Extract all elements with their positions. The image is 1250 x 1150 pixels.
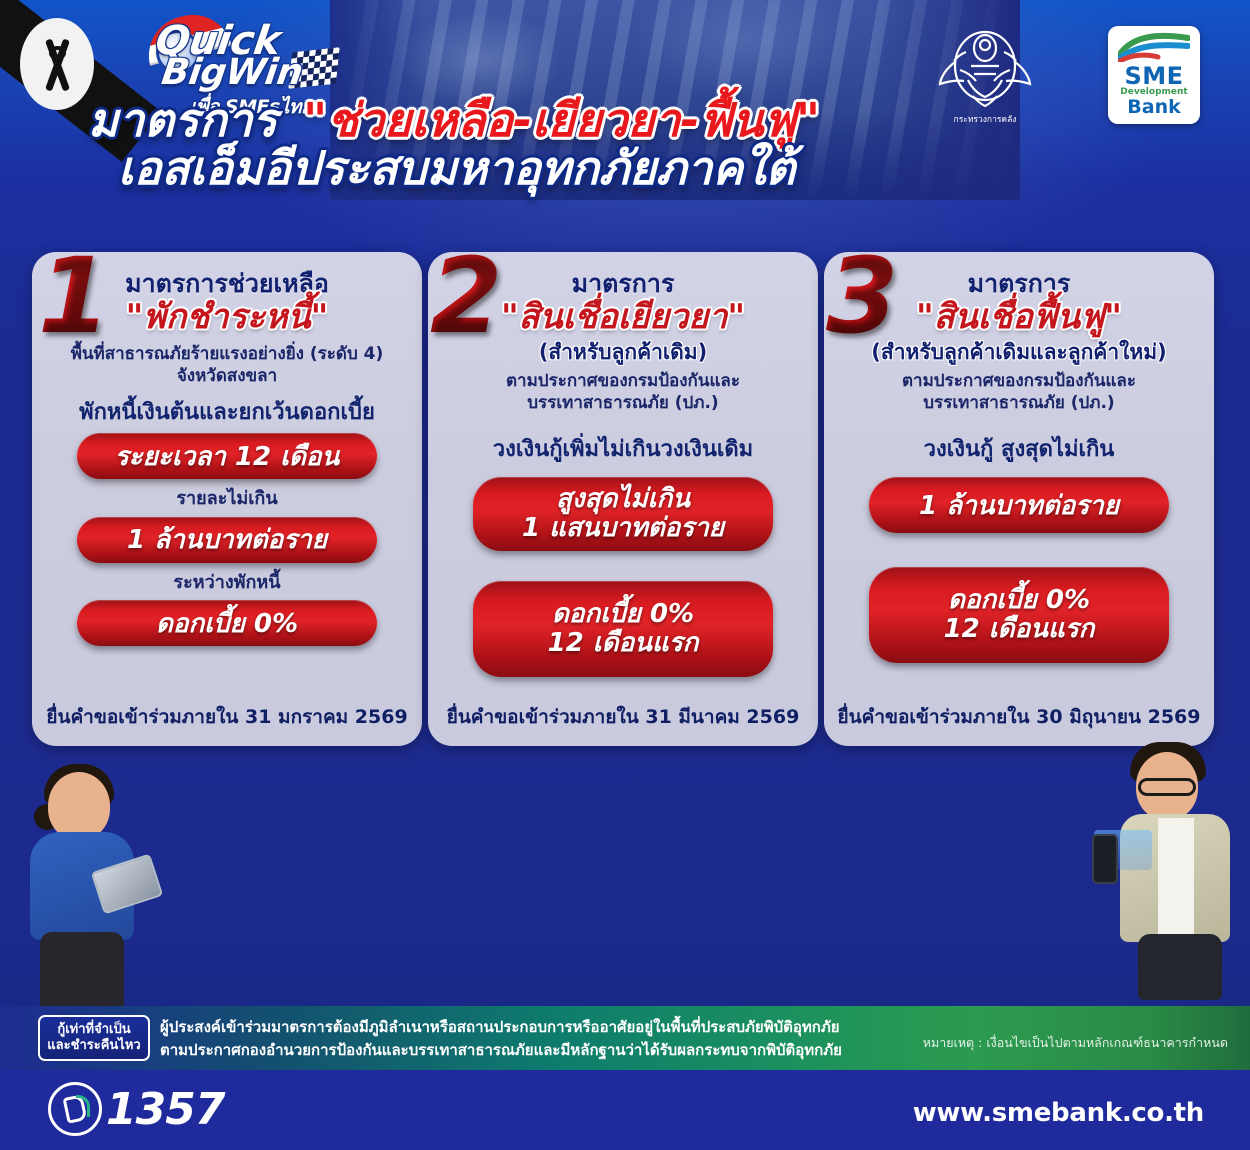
card-2-pill-1: สูงสุดไม่เกิน 1 แสนบาทต่อราย bbox=[473, 477, 773, 551]
title-subline: เอสเอ็มอีประสบมหาอุทกภัยภาคใต้ bbox=[118, 141, 795, 195]
footer-bar: 1357 www.smebank.co.th bbox=[0, 1070, 1250, 1150]
phone-call-icon bbox=[48, 1082, 102, 1136]
logo-text-bigwin: BigWin bbox=[159, 52, 305, 93]
disclaimer-note: หมายเหตุ : เงื่อนไขเป็นไปตามหลักเกณฑ์ธนา… bbox=[923, 1033, 1228, 1053]
ministry-of-finance-seal-icon: กระทรวงการคลัง bbox=[930, 18, 1040, 128]
title-highlight: "ช่วยเหลือ-เยียวยา-ฟื้นฟู" bbox=[303, 93, 820, 147]
card-1-caption-3: ระหว่างพักหนี้ bbox=[48, 572, 406, 594]
illustration-woman-with-tablet bbox=[8, 754, 158, 1002]
card-2-pill-2-line2: 12 เดือนแรก bbox=[548, 629, 699, 658]
card-1-sub-note: พื้นที่สาธารณภัยร้ายแรงอย่างยิ่ง (ระดับ … bbox=[48, 343, 406, 387]
card-1-pill-1: ระยะเวลา 12 เดือน bbox=[77, 433, 377, 479]
card-3-lead: วงเงินกู้ สูงสุดไม่เกิน bbox=[840, 436, 1198, 464]
card-1-pill-2: 1 ล้านบาทต่อราย bbox=[77, 517, 377, 563]
card-3-pill-2: ดอกเบี้ย 0% 12 เดือนแรก bbox=[869, 567, 1169, 663]
sme-development-bank-logo: SME Development Bank bbox=[1108, 26, 1200, 124]
card-2-pill-2-line1: ดอกเบี้ย 0% bbox=[552, 600, 694, 629]
card-2-title-big: "สินเชื่อเยียวยา" bbox=[444, 297, 802, 338]
measure-card-3[interactable]: 3 มาตรการ "สินเชื่อฟื้นฟู" (สำหรับลูกค้า… bbox=[824, 252, 1214, 746]
card-2-pill-1-line1: สูงสุดไม่เกิน bbox=[556, 485, 690, 514]
measures-card-group: 1 มาตรการช่วยเหลือ "พักชำระหนี้" พื้นที่… bbox=[0, 246, 1250, 746]
header: Quick BigWin เพื่อ SMEsไทย มาตรการ"ช่วยเ… bbox=[0, 0, 1250, 238]
illustration-man-with-phone bbox=[1086, 738, 1246, 1000]
card-1-deadline: ยื่นคำขอเข้าร่วมภายใน 31 มกราคม 2569 bbox=[32, 702, 422, 732]
card-2-paren: (สำหรับลูกค้าเดิม) bbox=[444, 340, 802, 365]
card-3-deadline: ยื่นคำขอเข้าร่วมภายใน 30 มิถุนายน 2569 bbox=[824, 702, 1214, 732]
contact-band: ช่องทาง แจ้งความประสงค์ สแกน QR Code แจ้… bbox=[0, 748, 1250, 1006]
sme-logo-line1: SME bbox=[1124, 64, 1183, 88]
sme-logo-line3: Bank bbox=[1127, 98, 1180, 118]
card-3-pill-2-line1: ดอกเบี้ย 0% bbox=[948, 586, 1090, 615]
card-1-pill-1-text: ระยะเวลา 12 เดือน bbox=[115, 436, 340, 477]
disclaimer-text: ผู้ประสงค์เข้าร่วมมาตรการต้องมีภูมิลำเนา… bbox=[160, 1016, 842, 1061]
badge-line2: และชำระคืนไหว bbox=[47, 1038, 140, 1054]
card-3-pill-1-text: 1 ล้านบาทต่อราย bbox=[919, 485, 1119, 526]
footer-website[interactable]: www.smebank.co.th bbox=[913, 1098, 1204, 1128]
card-3-paren: (สำหรับลูกค้าเดิมและลูกค้าใหม่) bbox=[840, 340, 1198, 365]
measure-card-2[interactable]: 2 มาตรการ "สินเชื่อเยียวยา" (สำหรับลูกค้… bbox=[428, 252, 818, 746]
card-2-sub-note: ตามประกาศของกรมป้องกันและ บรรเทาสาธารณภั… bbox=[444, 370, 802, 414]
card-2-lead: วงเงินกู้เพิ่มไม่เกินวงเงินเดิม bbox=[444, 436, 802, 464]
card-1-pill-3-text: ดอกเบี้ย 0% bbox=[156, 603, 298, 644]
responsible-lending-badge: กู้เท่าที่จำเป็น และชำระคืนไหว bbox=[38, 1015, 150, 1061]
hotline-block[interactable]: 1357 bbox=[48, 1082, 224, 1136]
card-3-pill-2-line2: 12 เดือนแรก bbox=[944, 615, 1095, 644]
card-1-pill-2-text: 1 ล้านบาทต่อราย bbox=[127, 519, 327, 560]
card-3-sub-note: ตามประกาศของกรมป้องกันและ บรรเทาสาธารณภั… bbox=[840, 370, 1198, 414]
disclaimer-line1: ผู้ประสงค์เข้าร่วมมาตรการต้องมีภูมิลำเนา… bbox=[160, 1016, 842, 1039]
card-1-title-big: "พักชำระหนี้" bbox=[48, 297, 406, 338]
hotline-number[interactable]: 1357 bbox=[106, 1084, 224, 1135]
badge-line1: กู้เท่าที่จำเป็น bbox=[57, 1022, 130, 1038]
card-3-pill-1: 1 ล้านบาทต่อราย bbox=[869, 477, 1169, 533]
card-1-caption-2: รายละไม่เกิน bbox=[48, 488, 406, 510]
sme-swoosh-icon bbox=[1118, 32, 1190, 62]
infographic-poster: Quick BigWin เพื่อ SMEsไทย มาตรการ"ช่วยเ… bbox=[0, 0, 1250, 1150]
card-1-lead: พักหนี้เงินต้นและยกเว้นดอกเบี้ย bbox=[48, 399, 406, 427]
svg-text:กระทรวงการคลัง: กระทรวงการคลัง bbox=[954, 115, 1017, 125]
title-prefix: มาตรการ bbox=[88, 93, 277, 147]
card-1-pill-3: ดอกเบี้ย 0% bbox=[77, 600, 377, 646]
poster-title: มาตรการ"ช่วยเหลือ-เยียวยา-ฟื้นฟู" เอสเอ็… bbox=[0, 96, 1250, 194]
card-2-title-small: มาตรการ bbox=[444, 270, 802, 299]
card-2-deadline: ยื่นคำขอเข้าร่วมภายใน 31 มีนาคม 2569 bbox=[428, 702, 818, 732]
card-1-title-small: มาตรการช่วยเหลือ bbox=[48, 270, 406, 299]
disclaimer-line2: ตามประกาศกองอำนวยการป้องกันและบรรเทาสาธา… bbox=[160, 1039, 842, 1062]
card-2-pill-1-line2: 1 แสนบาทต่อราย bbox=[522, 514, 724, 543]
card-3-title-small: มาตรการ bbox=[840, 270, 1198, 299]
disclaimer-bar: กู้เท่าที่จำเป็น และชำระคืนไหว ผู้ประสงค… bbox=[0, 1006, 1250, 1070]
measure-card-1[interactable]: 1 มาตรการช่วยเหลือ "พักชำระหนี้" พื้นที่… bbox=[32, 252, 422, 746]
card-2-pill-2: ดอกเบี้ย 0% 12 เดือนแรก bbox=[473, 581, 773, 677]
card-3-title-big: "สินเชื่อฟื้นฟู" bbox=[840, 297, 1198, 338]
